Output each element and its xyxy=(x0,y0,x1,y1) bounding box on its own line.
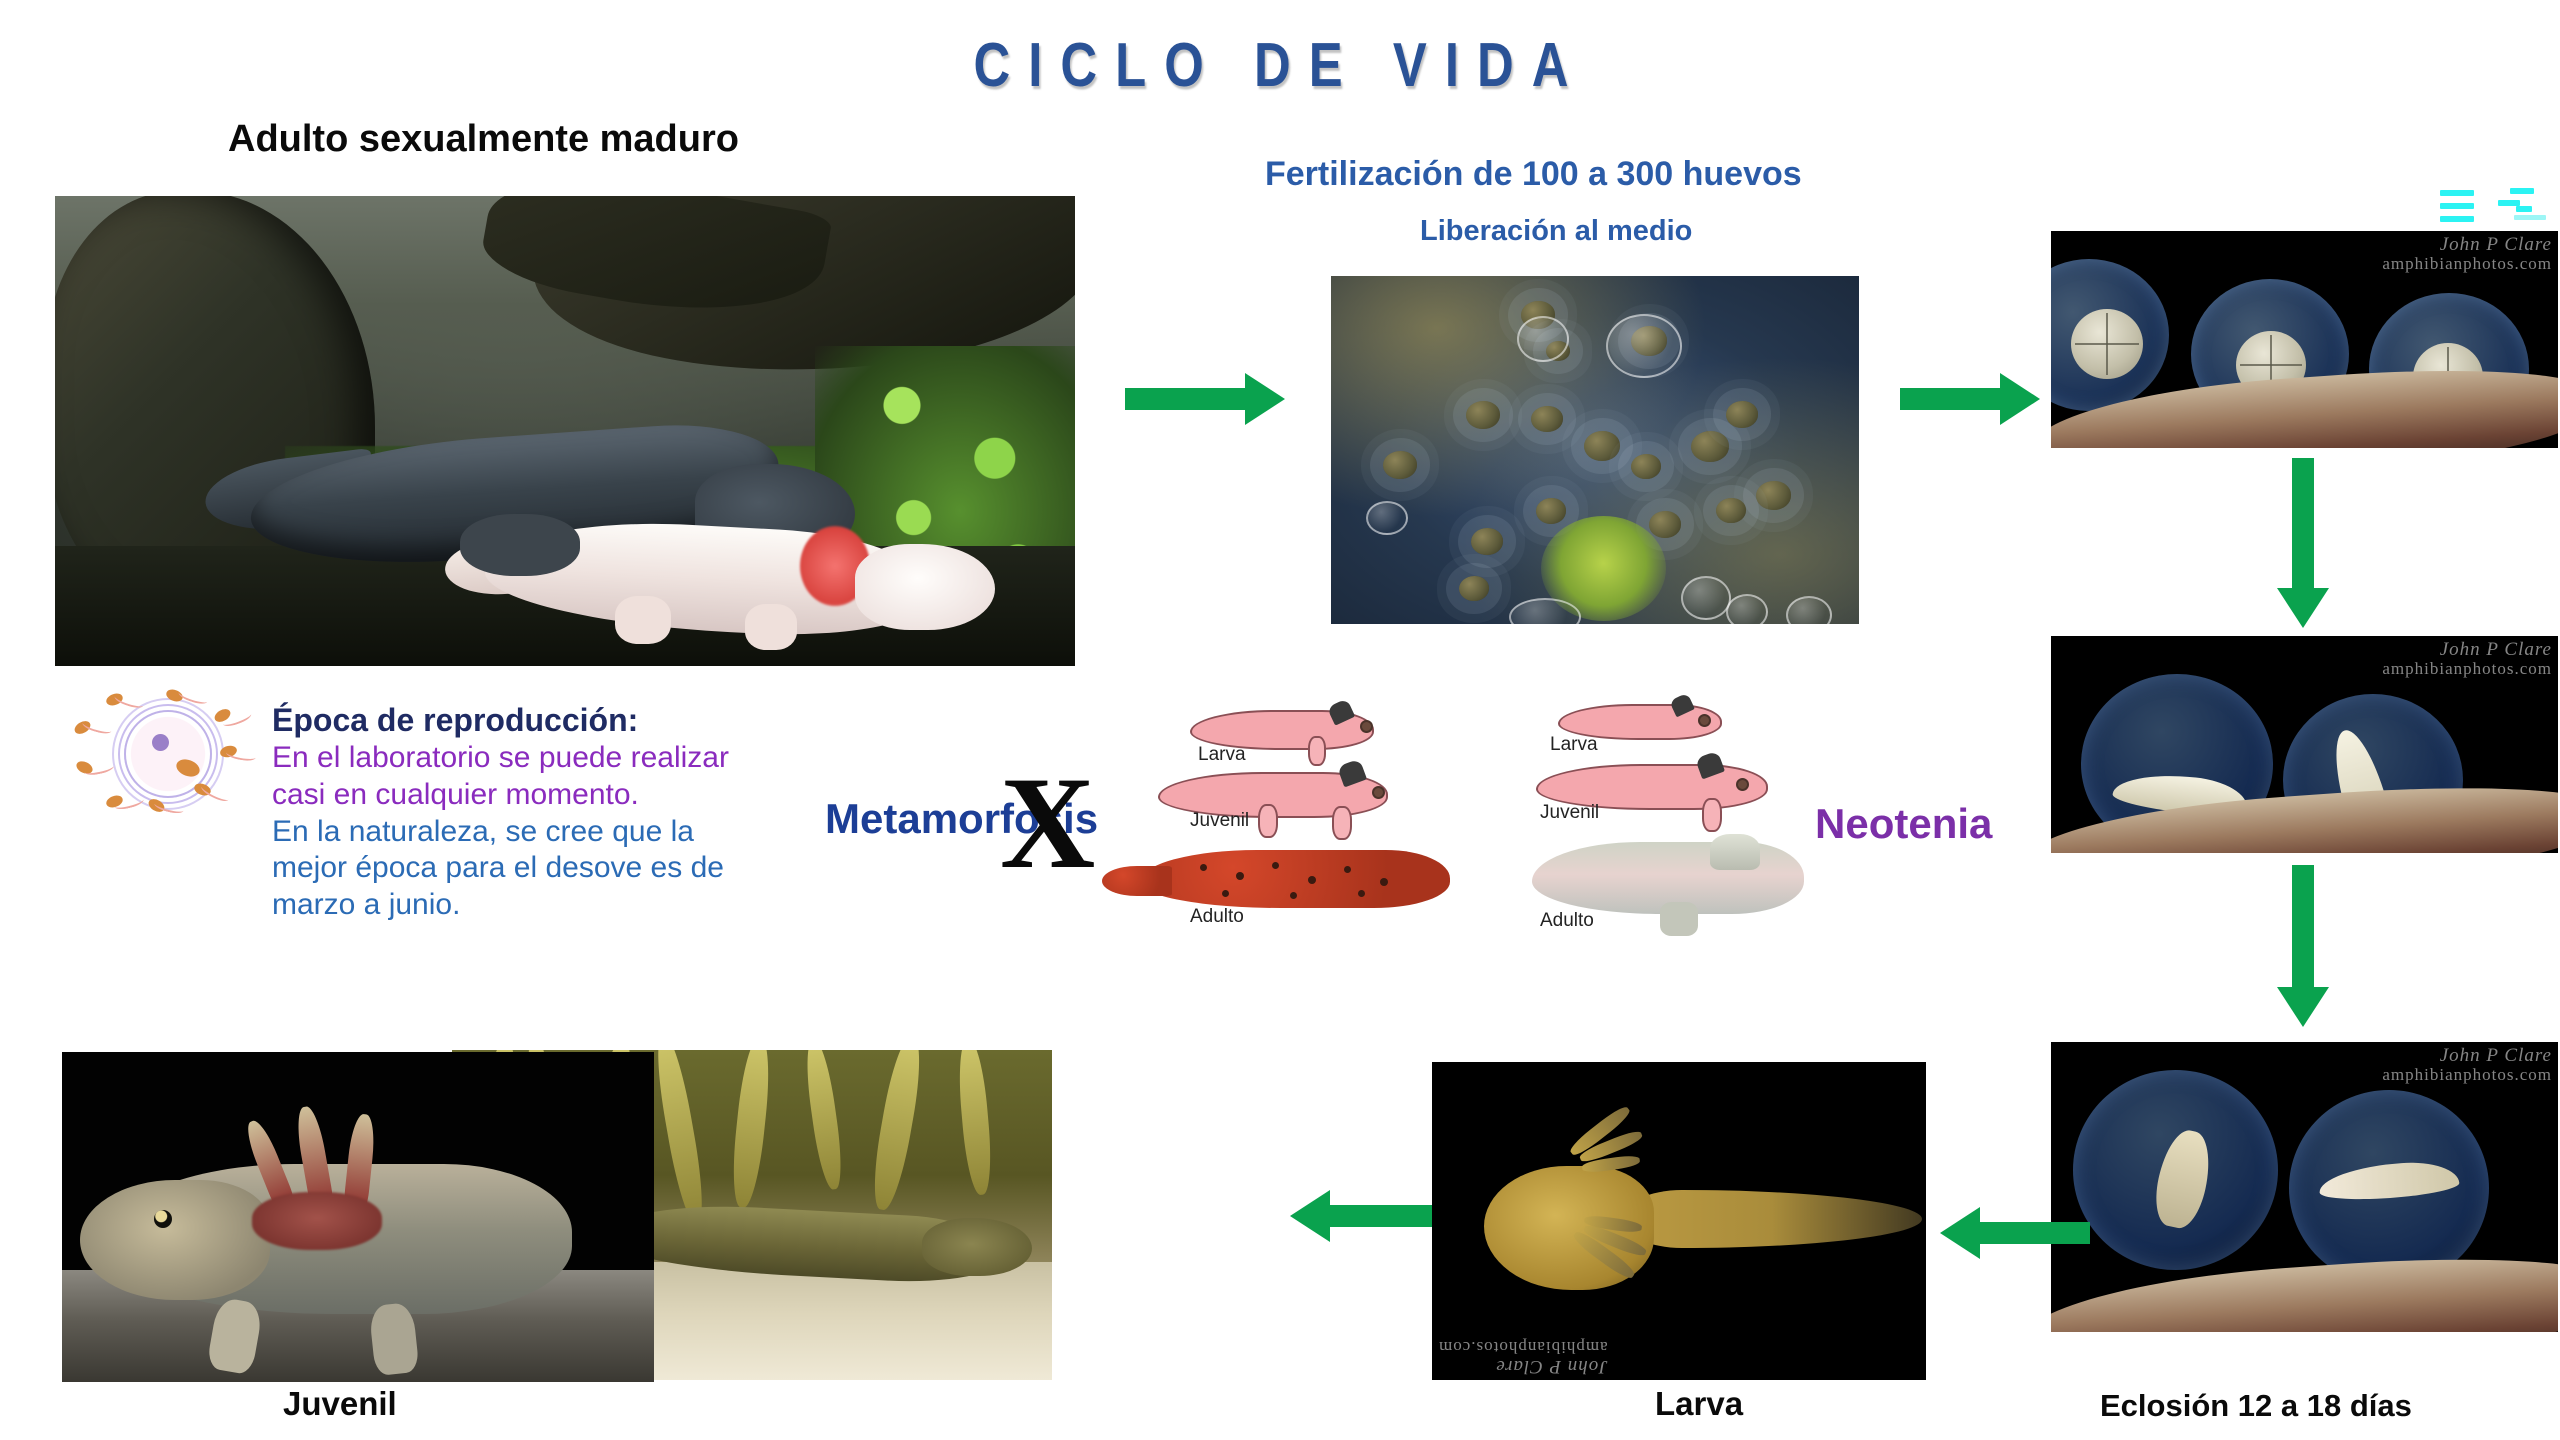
egg-cleavage-photo: John P Clareamphibianphotos.com xyxy=(2051,231,2558,448)
larva-label: Larva xyxy=(1655,1385,1743,1423)
fertilization-label-line1: Fertilización de 100 a 300 huevos xyxy=(1265,155,1802,194)
neoteny-label: Neotenia xyxy=(1815,800,1992,848)
photo-watermark: John P Clareamphibianphotos.com xyxy=(2382,1046,2552,1084)
metamorphosis-stage-adulto: Adulto xyxy=(1190,906,1244,928)
egg-mass-photo xyxy=(1331,276,1859,624)
hierarchy-icon[interactable] xyxy=(2498,188,2542,224)
list-lines-icon[interactable] xyxy=(2440,190,2476,224)
adult-axolotls-photo xyxy=(55,196,1075,666)
fertilization-label-line2: Liberación al medio xyxy=(1420,215,1692,248)
photo-watermark: John P Clareamphibianphotos.com xyxy=(2382,640,2552,678)
reproduction-nature-line1: En la naturaleza, se cree que la xyxy=(272,814,852,851)
page-title: CICLO DE VIDA xyxy=(230,30,2329,101)
reproduction-lab-line2: casi en cualquier momento. xyxy=(272,777,852,814)
reproduction-nature-line2: mejor época para el desove es de xyxy=(272,850,852,887)
juvenile-label: Juvenil xyxy=(283,1385,397,1423)
photo-watermark: John P Clareamphibianphotos.com xyxy=(1438,1338,1608,1376)
adult-stage-label: Adulto sexualmente maduro xyxy=(228,118,739,161)
larva-photo: John P Clareamphibianphotos.com xyxy=(1432,1062,1926,1380)
metamorphosis-diagram: Larva Juvenil Adulto xyxy=(1130,700,1530,940)
reproduction-text-block: Época de reproducción: En el laboratorio… xyxy=(272,700,852,923)
photo-watermark: John P Clareamphibianphotos.com xyxy=(2382,235,2552,273)
neoteny-diagram: Larva Juvenil Adulto xyxy=(1540,692,1860,942)
reproduction-lab-line1: En el laboratorio se puede realizar xyxy=(272,740,852,777)
hatching-photo: John P Clareamphibianphotos.com xyxy=(2051,1042,2558,1332)
hatching-label: Eclosión 12 a 18 días xyxy=(2100,1388,2412,1424)
neoteny-stage-adulto: Adulto xyxy=(1540,910,1594,932)
juvenile-photo xyxy=(62,1052,654,1382)
metamorphosis-crossed-out-x: X xyxy=(1000,762,1095,883)
reproduction-nature-line3: marzo a junio. xyxy=(272,887,852,924)
neoteny-stage-larva: Larva xyxy=(1550,734,1598,756)
metamorphosis-stage-larva: Larva xyxy=(1198,744,1246,766)
neoteny-stage-juvenil: Juvenil xyxy=(1540,802,1599,824)
reproduction-heading: Época de reproducción: xyxy=(272,700,852,740)
metamorphosis-stage-juvenil: Juvenil xyxy=(1190,810,1249,832)
ovum-sperm-icon xyxy=(70,688,250,816)
embryo-development-photo: John P Clareamphibianphotos.com xyxy=(2051,636,2558,853)
